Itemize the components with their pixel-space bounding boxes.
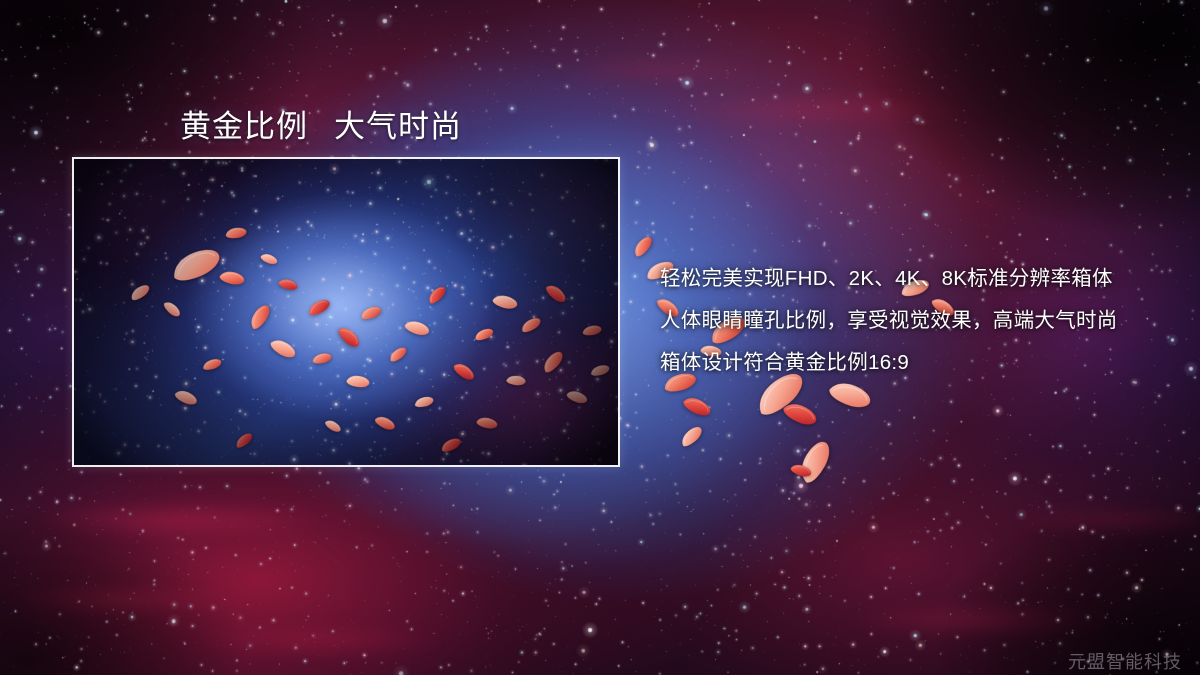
body-line-3: 箱体设计符合黄金比例16:9 bbox=[660, 342, 1180, 384]
slide-body-text: 轻松完美实现FHD、2K、4K、8K标准分辨率箱体 人体眼睛瞳孔比例，享受视觉效… bbox=[660, 258, 1180, 384]
petal bbox=[677, 423, 706, 451]
panel-vignette bbox=[74, 159, 620, 467]
display-panel-preview bbox=[72, 157, 620, 467]
body-line-2: 人体眼睛瞳孔比例，享受视觉效果，高端大气时尚 bbox=[660, 300, 1180, 342]
petal bbox=[778, 398, 822, 431]
petal bbox=[794, 436, 837, 488]
petal bbox=[789, 462, 813, 479]
presentation-slide: 黄金比例大气时尚 轻松完美实现FHD、2K、4K、8K标准分辨率箱体 人体眼睛瞳… bbox=[0, 0, 1200, 675]
slide-title-part-2: 大气时尚 bbox=[334, 109, 462, 144]
petal bbox=[680, 392, 714, 420]
slide-title-part-1: 黄金比例 bbox=[180, 109, 308, 144]
slide-title: 黄金比例大气时尚 bbox=[180, 101, 462, 146]
petal bbox=[630, 233, 655, 260]
body-line-1: 轻松完美实现FHD、2K、4K、8K标准分辨率箱体 bbox=[660, 258, 1180, 300]
company-watermark: 元盟智能科技 bbox=[1068, 648, 1182, 674]
